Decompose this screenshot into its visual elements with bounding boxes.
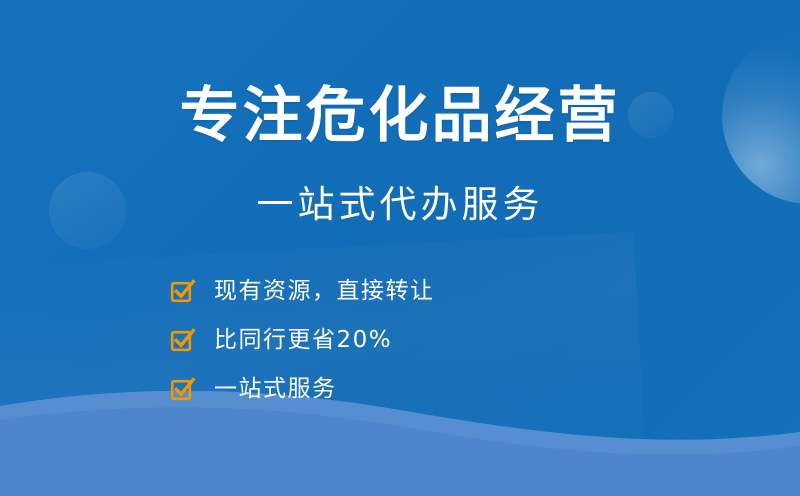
checkbox-checked-icon [170,327,196,353]
feature-list: 现有资源，直接转让 比同行更省20% 一站式 [170,276,435,404]
banner-subheadline: 一站式代办服务 [0,185,800,226]
feature-item: 现有资源，直接转让 [170,276,435,306]
banner-headline: 专注危化品经营 [0,86,800,146]
feature-item: 比同行更省20% [170,325,435,355]
banner-content: 专注危化品经营 一站式代办服务 现有资源，直接转让 [0,0,800,496]
checkbox-checked-icon [170,278,196,304]
promo-banner: 专注危化品经营 一站式代办服务 现有资源，直接转让 [0,0,800,496]
feature-label: 现有资源，直接转让 [214,280,435,303]
feature-item: 一站式服务 [170,374,435,404]
feature-label: 比同行更省20% [214,329,392,352]
checkbox-checked-icon [170,376,196,402]
feature-label: 一站式服务 [214,378,337,401]
